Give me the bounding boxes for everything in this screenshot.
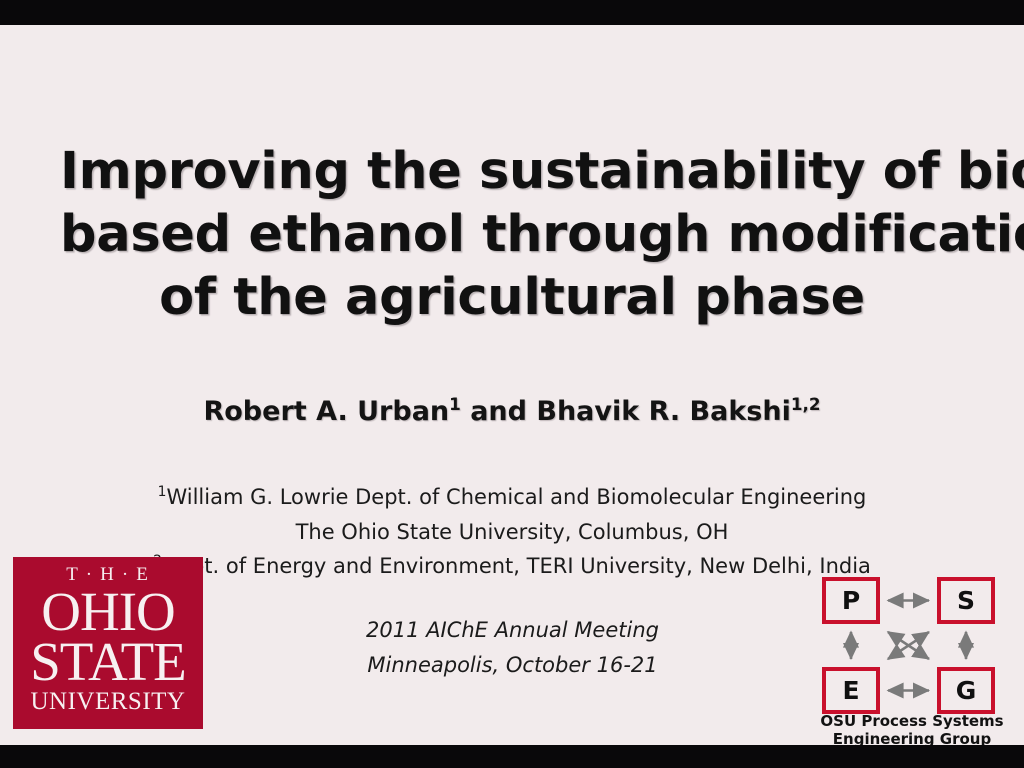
pseg-arrow-p-g bbox=[888, 632, 929, 659]
page-title: Improving the sustainability of bio- bas… bbox=[60, 140, 964, 329]
author-two-affiliation-marker: 1,2 bbox=[791, 394, 821, 414]
pseg-box-s[interactable]: S bbox=[937, 577, 995, 624]
slide-canvas: Improving the sustainability of bio- bas… bbox=[0, 25, 1024, 745]
conference-name: 2011 AIChE Annual Meeting bbox=[230, 613, 795, 648]
logo-word-ohio: OHIO bbox=[13, 587, 203, 636]
title-line-1: Improving the sustainability of bio- bbox=[60, 140, 964, 203]
pseg-box-g[interactable]: G bbox=[937, 667, 995, 714]
affiliation-text-3: Dept. of Energy and Environment, TERI Un… bbox=[162, 554, 871, 578]
ohio-state-university-logo: T·H·E OHIO STATE UNIVERSITY bbox=[13, 557, 203, 729]
pseg-arrow-e-s bbox=[888, 632, 929, 659]
conference-block: 2011 AIChE Annual Meeting Minneapolis, O… bbox=[230, 613, 795, 683]
pseg-box-p[interactable]: P bbox=[822, 577, 880, 624]
authors-conjunction: and bbox=[461, 396, 537, 427]
conference-location-date: Minneapolis, October 16-21 bbox=[230, 648, 795, 683]
letterbox-bar-top bbox=[0, 0, 1024, 25]
authors-line: Robert A. Urban1 and Bhavik R. Bakshi1,2 bbox=[60, 396, 964, 427]
pseg-caption: OSU Process Systems Engineering Group bbox=[810, 712, 1014, 745]
logo-word-state: STATE bbox=[13, 636, 203, 687]
title-line-2: based ethanol through modification bbox=[60, 203, 964, 266]
affiliation-line-1: 1William G. Lowrie Dept. of Chemical and… bbox=[40, 480, 984, 515]
logo-word-university: UNIVERSITY bbox=[13, 687, 203, 717]
affiliation-line-2: The Ohio State University, Columbus, OH bbox=[40, 515, 984, 550]
author-one-name: Robert A. Urban bbox=[203, 396, 449, 427]
pseg-box-grid: P S E G bbox=[812, 552, 1012, 697]
author-one-affiliation-marker: 1 bbox=[449, 394, 461, 414]
pseg-caption-line-1: OSU Process Systems bbox=[810, 712, 1014, 730]
slide-root: Improving the sustainability of bio- bas… bbox=[0, 0, 1024, 768]
author-two-name: Bhavik R. Bakshi bbox=[536, 396, 790, 427]
pseg-box-e[interactable]: E bbox=[822, 667, 880, 714]
pseg-caption-line-2: Engineering Group bbox=[810, 730, 1014, 745]
letterbox-bar-bottom bbox=[0, 745, 1024, 768]
pseg-diagram: P S E G OSU Process Systems Engineering … bbox=[812, 552, 1012, 730]
title-line-3: of the agricultural phase bbox=[60, 266, 964, 329]
affiliation-text-1: William G. Lowrie Dept. of Chemical and … bbox=[166, 485, 866, 509]
affiliation-text-2: The Ohio State University, Columbus, OH bbox=[296, 520, 729, 544]
